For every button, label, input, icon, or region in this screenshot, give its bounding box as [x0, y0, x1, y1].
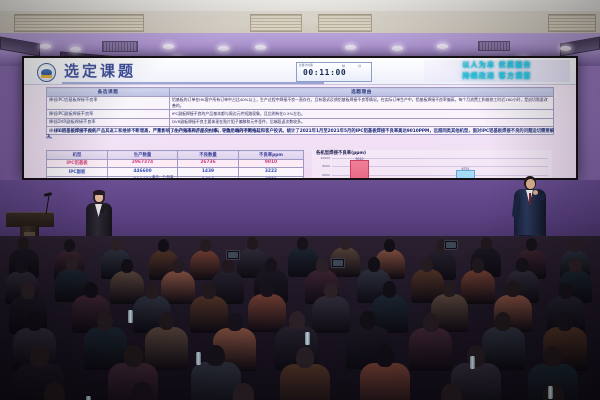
audience-member: [409, 328, 452, 371]
unit-note: 单位：个/批量: [152, 174, 174, 178]
smartphone-recording: [226, 250, 240, 260]
audience-member-head: [265, 258, 277, 273]
water-bottle: [470, 356, 475, 369]
header-divider: [62, 82, 324, 84]
audience-member-head: [131, 382, 152, 400]
seated-audience: [0, 236, 600, 400]
presentation-slide: 选定课题 比赛计时器 时 分 00:11:00 以人为本 优质服务 持续改进 客…: [24, 58, 576, 178]
audience-member-head: [145, 282, 159, 298]
water-bottle: [128, 310, 133, 323]
defect-rate-bar-chart: 各机型焊接不良率(ppm) 02000400060008000100009010…: [312, 150, 552, 178]
audience-member-head: [30, 345, 48, 367]
ceiling-grille: [478, 41, 510, 51]
topic-cell: 降低IPC副板焊接不良率: [47, 110, 170, 118]
audience-member-head: [570, 239, 581, 252]
col-header-qty: 生产数量: [108, 151, 178, 160]
chart-bar: 9010IPC铝基板: [350, 160, 369, 178]
audience-member-head: [383, 281, 397, 297]
audience-member-head: [27, 312, 43, 331]
projection-screen: 选定课题 比赛计时器 时 分 00:11:00 以人为本 优质服务 持续改进 客…: [24, 58, 576, 178]
water-bottle: [196, 352, 201, 365]
water-bottle: [548, 386, 553, 399]
audience-member-head: [297, 237, 308, 250]
ceiling-light: [70, 47, 81, 52]
countdown-timer: 比赛计时器 时 分 00:11:00: [296, 62, 372, 82]
ceiling-light: [218, 46, 229, 51]
ceiling-soffit: [0, 0, 600, 11]
cell-ppm: 3222: [239, 168, 304, 177]
audience-member-head: [423, 313, 439, 332]
audience-member-head: [360, 311, 376, 330]
company-logo-icon: [37, 63, 56, 82]
cell-ppm: 6751: [239, 176, 304, 178]
smartphone-recording: [331, 258, 345, 268]
audience-member-head: [21, 283, 35, 299]
audience-member-head: [18, 237, 29, 250]
table-row: IPC铝基板 2967374 26736 9010: [47, 159, 304, 168]
col-header-defects: 不良数量: [178, 151, 239, 160]
slide-header: 选定课题 比赛计时器 时 分 00:11:00 以人为本 优质服务 持续改进 客…: [24, 58, 576, 85]
timer-caption: 比赛计时器: [299, 63, 313, 67]
audience-member-head: [336, 382, 357, 400]
audience-member: [280, 364, 330, 400]
slogan-line-1: 以人为本 优质服务: [424, 60, 570, 71]
audience-member-head: [481, 237, 492, 250]
cell-ppm: 9010: [239, 159, 304, 168]
audience-member-head: [495, 312, 511, 331]
bar-value-label: 6751: [451, 167, 481, 171]
audience-member-head: [559, 283, 573, 299]
table-row: 降低DVR副板焊接不良率 DVR副板焊接不良主要体现在贴片阻子偏移和元件歪件，后…: [47, 118, 554, 126]
slogan-line-2: 持续改进 客方满意: [424, 71, 570, 82]
audience-member-head: [227, 313, 243, 332]
chart-plot-area: 02000400060008000100009010IPC铝基板3222IPC副…: [332, 158, 548, 178]
table-header-row: 备选课题 选题理由: [47, 88, 554, 97]
audience-member-head: [526, 238, 537, 251]
ceiling-light: [437, 44, 448, 49]
col-header-topic: 备选课题: [47, 88, 170, 97]
table-row: 降低IPC铝基板焊接不良率 铝基板的订单在HK客户所有订单中占比40%以上，生产…: [47, 96, 554, 110]
ceiling-light: [163, 44, 174, 49]
topic-cell: 降低DVR副板焊接不良率: [47, 118, 170, 126]
audience-member-head: [84, 282, 98, 298]
audience-member-head: [64, 239, 75, 252]
audience-member-head: [443, 281, 457, 297]
ceiling-vent: [250, 14, 302, 32]
ceiling-vent: [548, 14, 596, 32]
audience-member-head: [247, 237, 258, 250]
audience-member-head: [557, 312, 573, 331]
ceiling-light: [392, 46, 403, 51]
audience-member-head: [376, 345, 394, 367]
audience-member-head: [421, 257, 433, 272]
audience-member: [461, 270, 495, 304]
audience-member-head: [206, 345, 224, 367]
water-bottle: [305, 332, 310, 345]
defect-rate-table: 机型 生产数量 不良数量 不良率ppm IPC铝基板 2967374 26736…: [46, 150, 304, 178]
audience-member-head: [324, 282, 338, 298]
timer-value: 00:11:00: [303, 68, 346, 77]
ceiling-grille: [102, 41, 138, 52]
audience-member-head: [296, 347, 314, 369]
conference-hall-photo: 选定课题 比赛计时器 时 分 00:11:00 以人为本 优质服务 持续改进 客…: [0, 0, 600, 400]
smartphone-recording: [444, 240, 458, 250]
cell-defects: 26736: [178, 159, 239, 168]
audience-member-head: [384, 239, 395, 252]
ceiling-light: [255, 45, 266, 50]
y-axis-tick-label: 8000: [312, 164, 330, 168]
ceiling-light: [560, 46, 571, 51]
podium-top: [6, 212, 54, 227]
table-row: IPC副板 446600 1439 3222: [47, 168, 304, 177]
cell-model: IPC副板: [47, 168, 108, 177]
table-header-row: 机型 生产数量 不良数量 不良率ppm: [47, 151, 304, 160]
slide-title: 选定课题: [64, 60, 136, 82]
audience-member-head: [569, 258, 581, 273]
col-header-ppm: 不良率ppm: [239, 151, 304, 160]
slogan-banner: 以人为本 优质服务 持续改进 客方满意: [424, 60, 570, 82]
audience-member-head: [200, 239, 211, 252]
audience-member-head: [544, 346, 562, 368]
audience-member-head: [111, 238, 122, 251]
audience-member-head: [340, 237, 351, 250]
audience-member-head: [441, 383, 462, 400]
audience-member-head: [15, 259, 27, 274]
reason-cell: IPC副板焊接不良的产品基本都与周边元件短路现象，且比例有在0.5%左右。: [170, 110, 554, 118]
audience-member-head: [516, 258, 528, 273]
col-header-model: 机型: [47, 151, 108, 160]
audience-member-head: [172, 259, 184, 274]
audience-member-head: [260, 281, 274, 297]
table-row: DVR副板 390480 2636 6751: [47, 176, 304, 178]
audience-member-head: [158, 239, 169, 252]
reason-cell: 铝基板的订单在HK客户所有订单中占比40%以上，生产过程中焊接不良一直存在，且有…: [170, 96, 554, 110]
cell-model: DVR副板: [47, 176, 108, 178]
chart-bar: 6751DVR副板: [456, 170, 475, 178]
audience-member-head: [121, 259, 133, 274]
audience-member-head: [506, 281, 520, 297]
audience-member-head: [124, 345, 142, 367]
y-axis-tick-label: 6000: [312, 173, 330, 177]
reason-cell: DVR副板焊接不良主要体现在贴片阻子偏移和元件歪件，后端段返次数较多。: [170, 118, 554, 126]
audience-member-head: [289, 311, 305, 330]
slide-paragraph: IPC铝基板焊接不良的产品其返工和维修不断增高，严重影响了生产效率和产品交付率，…: [46, 129, 554, 141]
audience-member-head: [222, 259, 234, 274]
ceiling-vent: [14, 14, 144, 32]
ceiling-light: [345, 45, 356, 50]
audience-member: [360, 363, 410, 400]
cell-defects: 1439: [178, 168, 239, 177]
table-row: 降低IPC副板焊接不良率 IPC副板焊接不良的产品基本都与周边元件短路现象，且比…: [47, 110, 554, 118]
y-axis-tick-label: 10000: [312, 156, 330, 160]
audience-member-head: [233, 383, 254, 400]
audience-member-head: [97, 311, 113, 330]
audience-member-head: [368, 257, 380, 272]
candidate-topic-table: 备选课题 选题理由 降低IPC铝基板焊接不良率 铝基板的订单在HK客户所有订单中…: [46, 87, 554, 135]
audience-member-head: [202, 282, 216, 298]
topic-cell: 降低IPC铝基板焊接不良率: [47, 96, 170, 110]
cell-model: IPC铝基板: [47, 159, 108, 168]
cell-defects: 2636: [178, 176, 239, 178]
ceiling-light: [40, 44, 51, 49]
audience-member-head: [316, 258, 328, 273]
audience-member-head: [159, 312, 175, 331]
water-bottle: [86, 396, 91, 400]
audience-member-head: [543, 383, 564, 400]
bar-value-label: 9010: [345, 157, 375, 161]
cell-qty: 2967374: [108, 159, 178, 168]
audience-member-head: [472, 258, 484, 273]
audience-member: [312, 296, 350, 334]
ceiling-vent: [318, 14, 372, 32]
audience-member-head: [66, 257, 78, 272]
audience-member: [145, 327, 188, 370]
audience-member: [248, 294, 286, 332]
col-header-reason: 选题理由: [170, 88, 554, 97]
